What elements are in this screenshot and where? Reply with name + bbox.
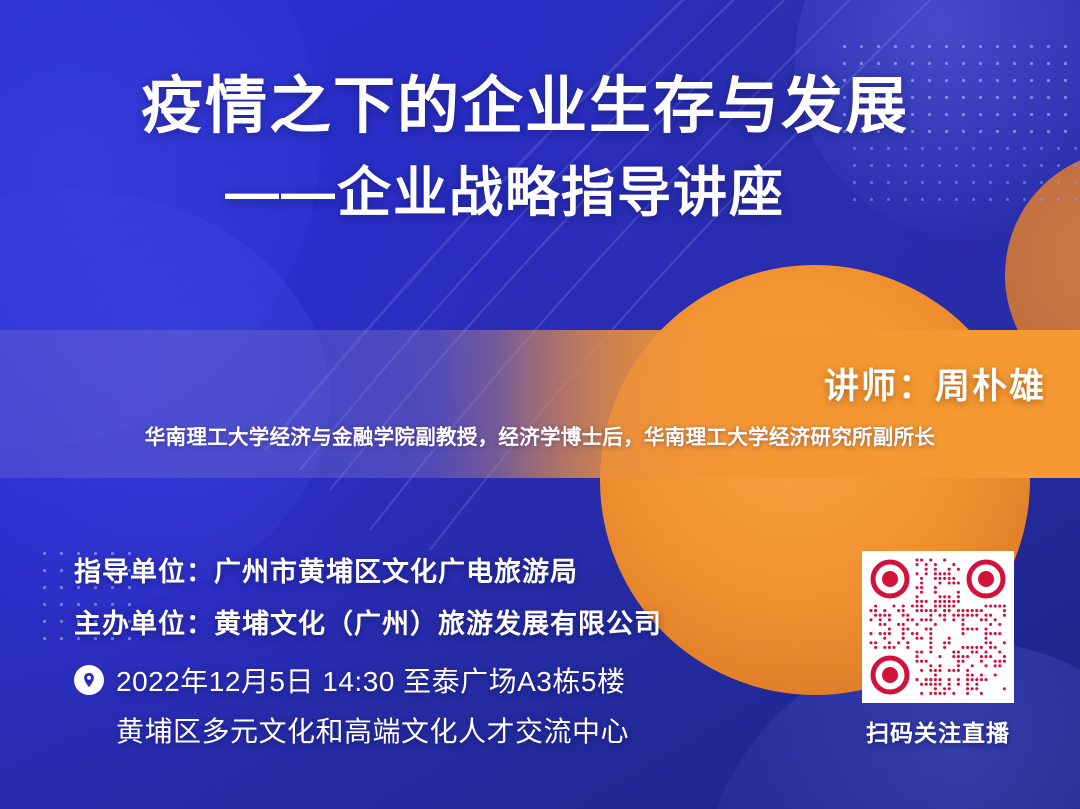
venue-address: 黄埔区多元文化和高端文化人才交流中心 <box>116 710 629 750</box>
qr-code-image[interactable] <box>862 551 1014 703</box>
location-pin-icon <box>74 665 104 695</box>
poster-title-line-1: 疫情之下的企业生存与发展 <box>0 76 1010 138</box>
organizer-block: 指导单位：广州市黄埔区文化广电旅游局 主办单位：黄埔文化（广州）旅游发展有限公司 <box>74 550 662 654</box>
qr-caption: 扫码关注直播 <box>858 714 1018 748</box>
speaker-name: 讲师：周朴雄 <box>824 358 1046 409</box>
host-unit-line: 主办单位：黄埔文化（广州）旅游发展有限公司 <box>74 602 662 641</box>
poster-title-line-2: ——企业战略指导讲座 <box>0 166 1010 220</box>
venue-datetime: 2022年12月5日 14:30 至泰广场A3栋5楼 <box>116 660 625 700</box>
glow-circle-left <box>0 0 320 450</box>
glow-circle-mid-left <box>0 190 330 610</box>
venue-row: 2022年12月5日 14:30 至泰广场A3栋5楼 <box>74 660 629 700</box>
event-poster: 疫情之下的企业生存与发展 ——企业战略指导讲座 讲师：周朴雄 华南理工大学经济与… <box>0 0 1080 809</box>
speaker-credentials: 华南理工大学经济与金融学院副教授，经济学博士后，华南理工大学经济研究所副所长 <box>0 420 1080 450</box>
qr-code-block: 扫码关注直播 <box>858 551 1018 748</box>
guiding-unit-line: 指导单位：广州市黄埔区文化广电旅游局 <box>74 550 662 589</box>
title-block: 疫情之下的企业生存与发展 ——企业战略指导讲座 <box>0 76 1010 220</box>
venue-block: 2022年12月5日 14:30 至泰广场A3栋5楼 黄埔区多元文化和高端文化人… <box>74 660 629 750</box>
